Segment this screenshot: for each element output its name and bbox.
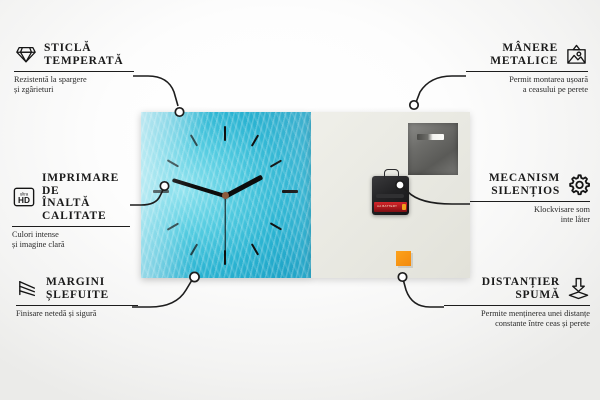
callout-title: STICLĂ TEMPERATĂ xyxy=(44,42,123,67)
clock-hour-hand xyxy=(224,174,263,198)
callout-divider xyxy=(14,71,134,72)
callout-metal-handles: MÂNERE METALICE Permit montarea ușoară a… xyxy=(466,42,588,96)
arrow-down-layers-icon xyxy=(567,277,590,300)
picture-frame-hanger-icon xyxy=(565,43,588,66)
callout-title: MARGINI ȘLEFUITE xyxy=(46,276,109,301)
svg-text:HD: HD xyxy=(18,196,30,205)
clock-tick-5 xyxy=(251,243,259,255)
callout-title: DISTANȚIER SPUMĂ xyxy=(482,276,560,301)
clock-tick-7 xyxy=(190,243,198,255)
callout-head: ultra HD IMPRIMARE DE ÎNALTĂ CALITATE xyxy=(12,172,130,222)
clock-movement: AA BATTERY xyxy=(372,176,409,215)
callout-head: MARGINI ȘLEFUITE xyxy=(16,276,138,301)
callout-subtitle: Culori intense și imagine clară xyxy=(12,230,130,251)
movement-ridge xyxy=(376,194,404,198)
clock-tick-4 xyxy=(270,223,282,231)
callout-head: MÂNERE METALICE xyxy=(466,42,588,67)
movement-hook xyxy=(384,169,399,179)
clock-tick-1 xyxy=(251,134,259,146)
clock-tick-9 xyxy=(153,190,169,193)
battery: AA BATTERY xyxy=(374,202,407,212)
clock-tick-8 xyxy=(167,223,179,231)
battery-positive-tip xyxy=(402,204,406,210)
clock-tick-3 xyxy=(282,190,298,193)
metal-hanger xyxy=(408,123,458,175)
callout-subtitle: Permite menținerea unei distanțe constan… xyxy=(444,309,590,330)
clock-minute-hand xyxy=(172,178,226,198)
callout-subtitle: Finisare netedă și sigură xyxy=(16,309,138,319)
diagonal-lines-icon xyxy=(16,277,39,300)
ultra-hd-badge-icon: ultra HD xyxy=(12,186,35,209)
clock-tick-2 xyxy=(270,160,282,168)
hanger-slot xyxy=(417,134,444,140)
clock-tick-12 xyxy=(224,126,226,141)
callout-high-quality-print: ultra HD IMPRIMARE DE ÎNALTĂ CALITATE Cu… xyxy=(12,172,130,251)
foam-spacer xyxy=(396,251,411,266)
product-infographic: AA BATTERY xyxy=(0,0,600,400)
clock-tick-11 xyxy=(190,134,198,146)
connector-polished-edges xyxy=(132,280,192,307)
callout-head: MECANISM SILENȚIOS xyxy=(470,172,590,197)
callout-divider xyxy=(444,305,590,306)
connector-foam-spacer xyxy=(403,279,444,307)
callout-divider xyxy=(12,226,130,227)
callout-divider xyxy=(16,305,138,306)
wall-clock-front-image xyxy=(141,112,311,278)
callout-polished-edges: MARGINI ȘLEFUITE Finisare netedă și sigu… xyxy=(16,276,138,319)
gear-icon xyxy=(567,173,590,196)
clock-hand-cap xyxy=(222,192,229,199)
callout-subtitle: Permit montarea ușoară a ceasului pe per… xyxy=(466,75,588,96)
connector-dot-metal-handles xyxy=(410,101,418,109)
callout-head: STICLĂ TEMPERATĂ xyxy=(14,42,134,67)
battery-label: AA BATTERY xyxy=(377,204,397,208)
clock-second-hand xyxy=(224,195,225,255)
diamond-icon xyxy=(14,43,37,66)
clock-tick-10 xyxy=(167,160,179,168)
callout-divider xyxy=(466,71,588,72)
callout-subtitle: Rezistentă la spargere și zgârieturi xyxy=(14,75,134,96)
connector-tempered-glass xyxy=(133,76,178,106)
callout-head: DISTANȚIER SPUMĂ xyxy=(444,276,590,301)
callout-title: MECANISM SILENȚIOS xyxy=(489,172,560,197)
wall-clock-back-image: AA BATTERY xyxy=(311,112,470,278)
connector-metal-handles xyxy=(415,76,466,105)
callout-silent-mechanism: MECANISM SILENȚIOS Klockvisare som inte … xyxy=(470,172,590,226)
callout-title: MÂNERE METALICE xyxy=(490,42,558,67)
callout-title: IMPRIMARE DE ÎNALTĂ CALITATE xyxy=(42,172,130,222)
callout-divider xyxy=(470,201,590,202)
callout-tempered-glass: STICLĂ TEMPERATĂ Rezistentă la spargere … xyxy=(14,42,134,96)
callout-foam-spacer: DISTANȚIER SPUMĂ Permite menținerea unei… xyxy=(444,276,590,330)
callout-subtitle: Klockvisare som inte låter xyxy=(470,205,590,226)
